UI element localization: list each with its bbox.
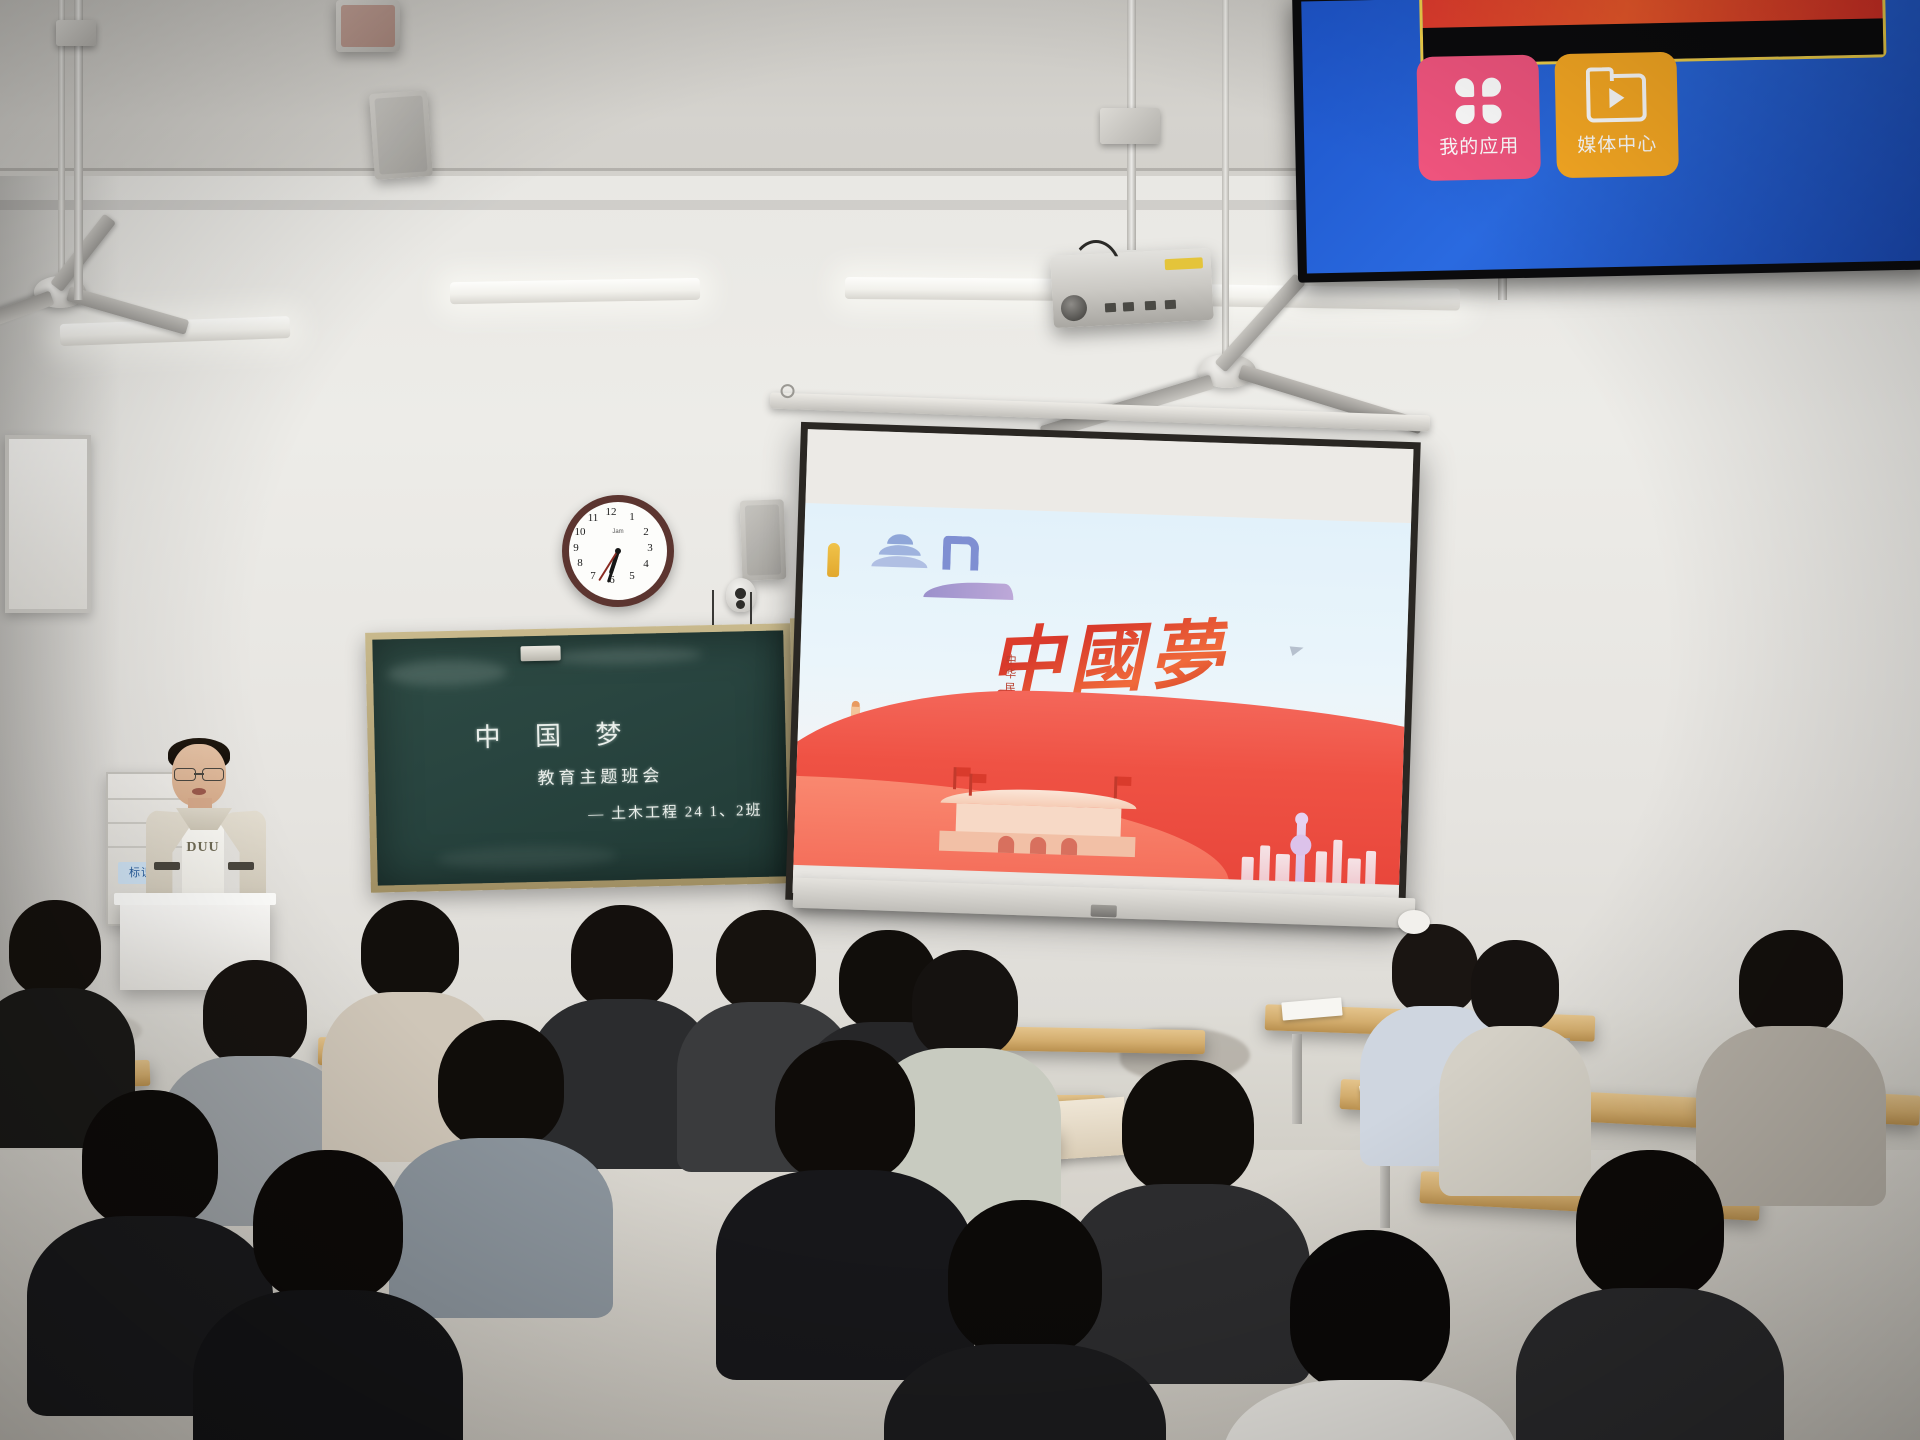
- student: [760, 1040, 930, 1330]
- clock-number: 11: [586, 512, 600, 524]
- tv-tile-media-center[interactable]: 媒体中心: [1554, 52, 1679, 179]
- clock-number: 12: [604, 506, 618, 518]
- podium-top: [114, 893, 276, 905]
- screen-hook-icon: [780, 384, 794, 398]
- ceiling-mount-box: [336, 0, 400, 52]
- tv-screen[interactable]: 我的应用 媒体中心: [1301, 0, 1920, 273]
- tube-light: [450, 278, 700, 304]
- wall-speaker-right: [740, 499, 787, 580]
- wall-clock: 12 1 2 3 4 5 6 7 8 9 10 11 Jam: [562, 495, 674, 607]
- clock-number: 5: [625, 570, 639, 582]
- student: [1108, 1060, 1268, 1340]
- tv-tile-label: 我的应用: [1439, 131, 1520, 160]
- screen-pull-handle-icon[interactable]: [1091, 905, 1117, 918]
- student: [1726, 930, 1856, 1180]
- grid-apps-icon: [1455, 77, 1502, 124]
- student: [1560, 1150, 1740, 1440]
- slide-china-dream: 中國夢 中华民族 伟大复兴 CHINA DREAM: [792, 429, 1413, 913]
- clock-number: 3: [643, 542, 657, 554]
- student: [426, 1020, 576, 1280]
- projector-warning-label: [1165, 257, 1204, 270]
- temple-of-heaven-icon: [870, 533, 929, 569]
- blackboard-class-line: — 土木工程 24 1、2班: [588, 799, 763, 824]
- student: [1270, 1230, 1470, 1440]
- clock-center-pin: [615, 548, 621, 554]
- clock-number: 2: [639, 526, 653, 538]
- media-folder-play-icon: [1586, 73, 1647, 122]
- projection-screen: 中國夢 中华民族 伟大复兴 CHINA DREAM: [785, 422, 1421, 920]
- student: [930, 1200, 1120, 1440]
- hair-tie: [1398, 910, 1430, 934]
- tiananmen-gate-icon: [939, 787, 1137, 857]
- clock-number: 9: [569, 542, 583, 554]
- clock-number: 4: [639, 558, 653, 570]
- cctv-building-icon: [943, 535, 980, 570]
- tv-tile-label: 媒体中心: [1577, 129, 1658, 158]
- wall-speaker-left: [369, 90, 433, 180]
- desk-leg: [1292, 1034, 1302, 1124]
- eyeglasses-icon: [174, 768, 224, 779]
- student: [560, 905, 684, 1155]
- clock-number: 1: [625, 511, 639, 523]
- clock-number: 10: [573, 526, 587, 538]
- projection-surface: 中國夢 中华民族 伟大复兴 CHINA DREAM: [792, 429, 1413, 913]
- tv-tile-my-apps[interactable]: 我的应用: [1416, 55, 1541, 182]
- chalk-eraser[interactable]: [520, 645, 560, 661]
- blackboard-surface: 中 国 梦 教育主题班会 — 土木工程 24 1、2班: [372, 630, 788, 885]
- ceiling-mount-left: [56, 20, 96, 46]
- clock-brand: Jam: [612, 529, 623, 535]
- student: [238, 1150, 418, 1440]
- shanghai-skyline-icon: [1237, 810, 1389, 887]
- clock-number: 8: [573, 557, 587, 569]
- torch-monument-icon: [827, 543, 840, 577]
- side-whiteboard: [5, 435, 91, 613]
- projector-lens: [1060, 294, 1087, 321]
- ceiling-mount-mid: [1100, 108, 1160, 144]
- blackboard-title: 中 国 梦: [474, 714, 636, 755]
- student: [1460, 940, 1570, 1170]
- slide-background: 中國夢 中华民族 伟大复兴 CHINA DREAM: [792, 503, 1411, 913]
- presenter-shirt-text: DUU: [183, 840, 223, 856]
- presenter-mouth: [192, 788, 206, 795]
- smart-tv-panel[interactable]: 我的应用 媒体中心: [1292, 0, 1920, 283]
- student: [70, 1090, 230, 1370]
- blackboard-subtitle: 教育主题班会: [537, 761, 664, 789]
- blackboard: 中 国 梦 教育主题班会 — 土木工程 24 1、2班: [365, 623, 796, 893]
- classroom-scene: 12 1 2 3 4 5 6 7 8 9 10 11 Jam 中 国 梦 教育主…: [0, 0, 1920, 1440]
